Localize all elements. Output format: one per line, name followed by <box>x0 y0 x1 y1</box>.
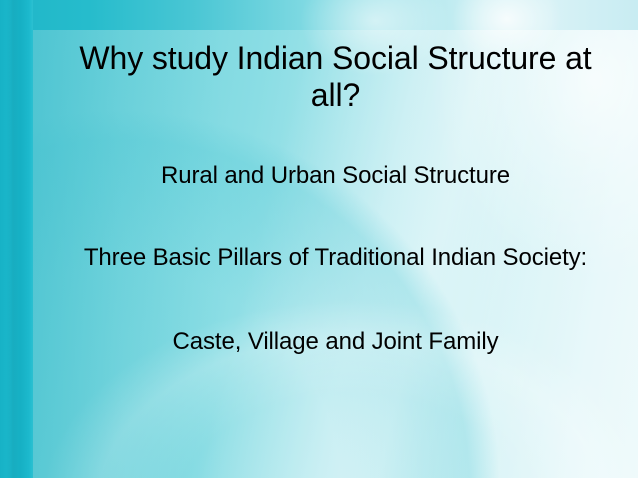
slide-body-line-2: Three Basic Pillars of Traditional India… <box>47 244 624 272</box>
slide-title: Why study Indian Social Structure at all… <box>47 40 624 114</box>
background-top-band <box>0 0 638 30</box>
background-left-strip <box>0 0 33 478</box>
slide-body-line-1: Rural and Urban Social Structure <box>47 162 624 190</box>
presentation-slide: Why study Indian Social Structure at all… <box>0 0 638 478</box>
slide-body-line-3: Caste, Village and Joint Family <box>47 328 624 356</box>
slide-content: Why study Indian Social Structure at all… <box>33 30 638 478</box>
background-left-strip-vein <box>6 0 20 478</box>
